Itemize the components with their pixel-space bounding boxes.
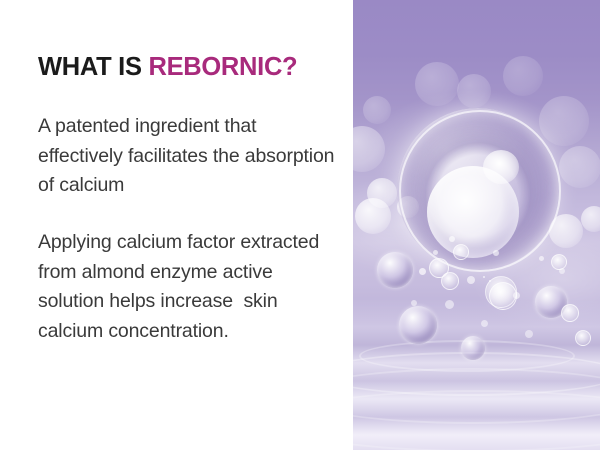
product-image-panel — [353, 0, 600, 450]
splash-spray — [481, 320, 488, 327]
droplet-bubble — [551, 254, 567, 270]
bokeh-circle — [503, 56, 543, 96]
bokeh-circle — [581, 206, 600, 232]
headline-accent: REBORNIC? — [148, 53, 297, 81]
splash-spray — [539, 256, 544, 261]
paragraph-1: A patented ingredient that effectively f… — [38, 112, 338, 201]
headline-lead: WHAT IS — [38, 53, 148, 81]
splash-spray — [525, 330, 533, 338]
splash-spray — [467, 276, 475, 284]
bokeh-circle — [539, 96, 589, 146]
droplet-bubble — [377, 252, 413, 288]
droplet-bubble — [575, 330, 591, 346]
main-bubble — [397, 108, 559, 270]
paragraph-2: Applying calcium factor extracted from a… — [38, 228, 338, 347]
bokeh-circle — [363, 96, 391, 124]
bokeh-circle — [355, 198, 391, 234]
water-surface — [353, 300, 600, 450]
body-copy: A patented ingredient that effectively f… — [38, 112, 338, 346]
water-ripple — [353, 390, 600, 450]
main-bubble-highlight — [483, 150, 519, 184]
droplet-bubble — [483, 276, 485, 278]
bokeh-circle — [353, 126, 385, 172]
bokeh-circle — [457, 74, 491, 108]
splash-spray — [445, 300, 454, 309]
droplet-bubble — [441, 272, 459, 290]
text-panel: WHAT IS REBORNIC? A patented ingredient … — [0, 0, 353, 450]
water-ripple — [353, 368, 600, 424]
page-title: WHAT IS REBORNIC? — [38, 53, 297, 81]
bokeh-circle — [367, 178, 397, 208]
droplet-bubble — [485, 276, 517, 308]
droplet-bubble — [453, 244, 469, 260]
info-card: WHAT IS REBORNIC? A patented ingredient … — [0, 0, 600, 450]
bokeh-circle — [559, 146, 600, 188]
droplet-bubble — [561, 304, 579, 322]
bokeh-circle — [415, 62, 459, 106]
droplet-bubble — [461, 336, 485, 360]
droplet-bubble — [399, 306, 437, 344]
splash-spray — [419, 268, 426, 275]
